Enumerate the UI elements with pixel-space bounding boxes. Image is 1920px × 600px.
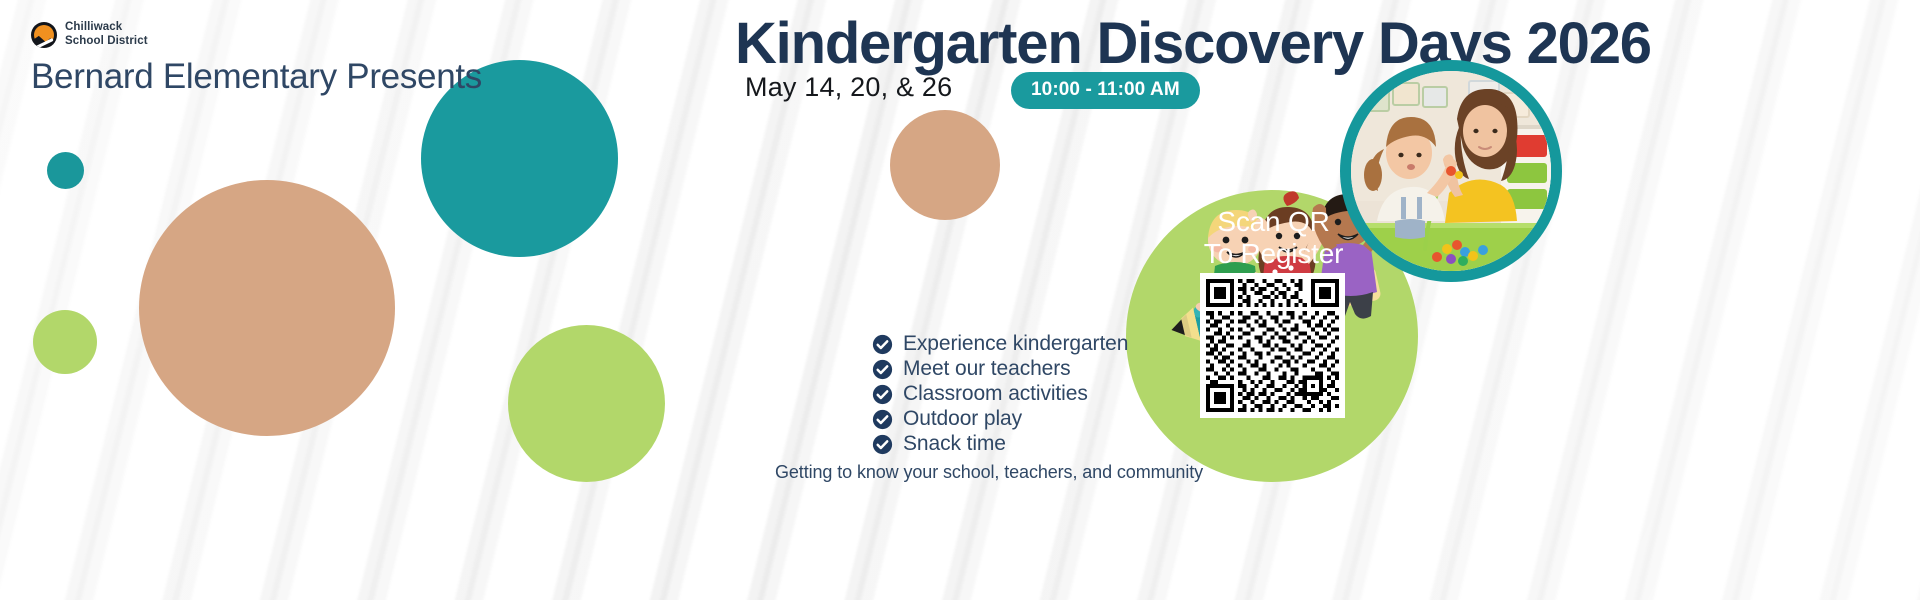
list-item: Meet our teachers xyxy=(872,358,1128,380)
list-item: Snack time xyxy=(872,433,1128,455)
scan-qr-heading: Scan QR To Register xyxy=(1186,206,1361,270)
list-item-label: Experience kindergarten xyxy=(903,332,1128,356)
event-dates: May 14, 20, & 26 xyxy=(745,72,952,103)
event-tagline: Getting to know your school, teachers, a… xyxy=(775,462,1203,483)
list-item: Experience kindergarten xyxy=(872,333,1128,355)
presenter-heading: Bernard Elementary Presents xyxy=(31,57,482,97)
decor-circle-green-small xyxy=(33,310,97,374)
decor-circle-green-large xyxy=(508,325,665,482)
poster-canvas: Chilliwack School District Bernard Eleme… xyxy=(0,0,1920,600)
list-item-label: Meet our teachers xyxy=(903,357,1071,381)
event-time-badge: 10:00 - 11:00 AM xyxy=(1011,72,1200,109)
event-title: Kindergarten Discovery Days 2026 xyxy=(735,10,1651,77)
scan-qr-line-2: To Register xyxy=(1186,238,1361,270)
decor-circle-teal-small xyxy=(47,152,84,189)
qr-code[interactable] xyxy=(1200,273,1345,418)
decor-circle-tan-medium xyxy=(890,110,1000,220)
check-circle-icon xyxy=(872,409,893,430)
district-name: Chilliwack School District xyxy=(65,21,148,48)
district-line-2: School District xyxy=(65,35,148,49)
check-circle-icon xyxy=(872,334,893,355)
scan-qr-line-1: Scan QR xyxy=(1186,206,1361,238)
list-item-label: Outdoor play xyxy=(903,407,1022,431)
list-item-label: Snack time xyxy=(903,432,1006,456)
sun-mountain-icon xyxy=(31,22,57,48)
district-logo: Chilliwack School District xyxy=(31,21,148,48)
check-circle-icon xyxy=(872,384,893,405)
list-item: Classroom activities xyxy=(872,383,1128,405)
check-circle-icon xyxy=(872,359,893,380)
district-line-1: Chilliwack xyxy=(65,21,148,35)
classroom-photo-ring xyxy=(1340,60,1562,282)
list-item: Outdoor play xyxy=(872,408,1128,430)
decor-circle-tan-large xyxy=(139,180,395,436)
check-circle-icon xyxy=(872,434,893,455)
list-item-label: Classroom activities xyxy=(903,382,1088,406)
event-highlights-list: Experience kindergarten Meet our teacher… xyxy=(872,333,1128,455)
classroom-photo xyxy=(1351,71,1551,271)
